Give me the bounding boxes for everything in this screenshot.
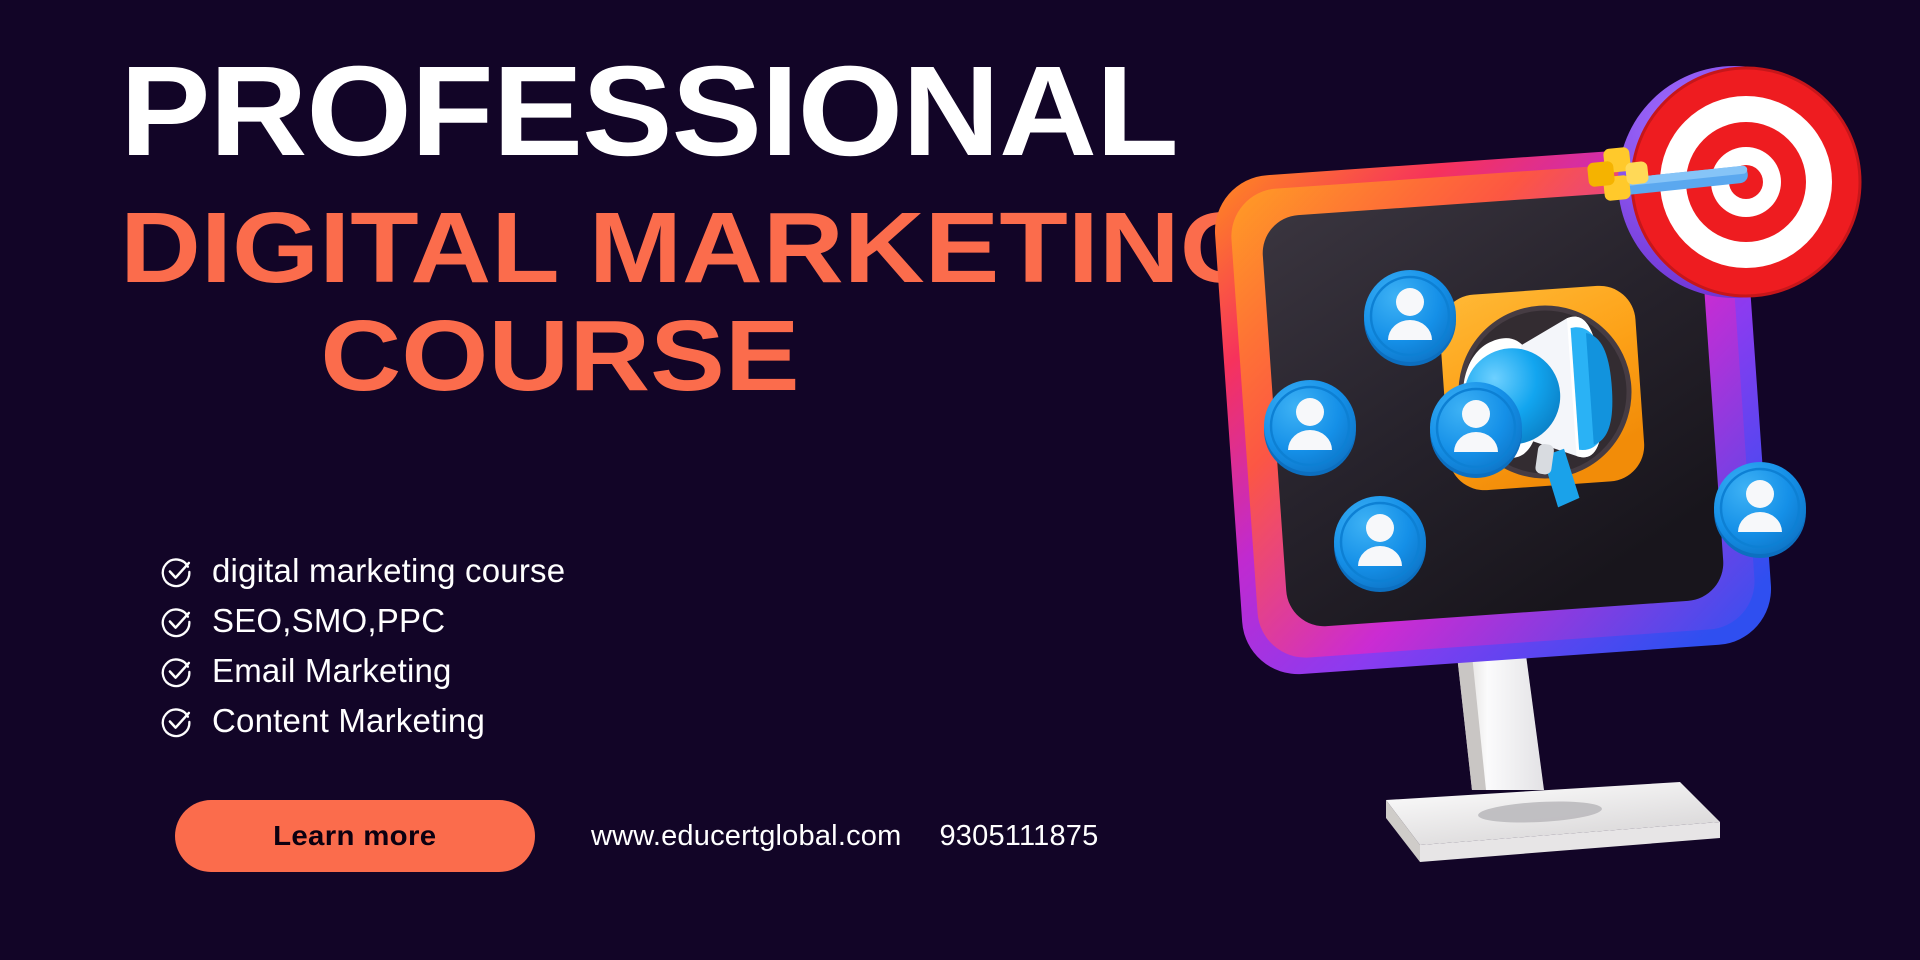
digital-marketing-illustration	[1120, 0, 1920, 960]
content-column: PROFESSIONAL DIGITAL MARKETING COURSE di…	[0, 0, 1120, 960]
list-item-label: Content Marketing	[212, 702, 485, 740]
headline-line-tertiary: COURSE	[67, 306, 1053, 406]
contact-group: www.educertglobal.com 9305111875	[591, 820, 1098, 853]
list-item: SEO,SMO,PPC	[158, 600, 565, 642]
user-avatar-badge	[1264, 380, 1356, 476]
feature-list: digital marketing course SEO,SMO,PPC Ema…	[158, 550, 565, 742]
user-avatar-badge	[1334, 496, 1426, 592]
cta-row: Learn more www.educertglobal.com 9305111…	[175, 800, 1098, 872]
user-avatar-badge	[1430, 382, 1522, 478]
check-circle-icon	[158, 602, 196, 640]
list-item-label: digital marketing course	[212, 552, 565, 590]
headline-line-secondary: DIGITAL MARKETING	[120, 194, 1240, 302]
list-item-label: Email Marketing	[212, 652, 452, 690]
headline-block: PROFESSIONAL DIGITAL MARKETING COURSE	[120, 48, 1120, 406]
user-avatar-badge	[1714, 462, 1806, 558]
phone-number[interactable]: 9305111875	[939, 820, 1098, 853]
check-circle-icon	[158, 702, 196, 740]
learn-more-button-label: Learn more	[273, 820, 436, 852]
headline-line-primary: PROFESSIONAL	[120, 48, 1180, 176]
promo-banner: PROFESSIONAL DIGITAL MARKETING COURSE di…	[0, 0, 1920, 960]
list-item: Content Marketing	[158, 700, 565, 742]
check-circle-icon	[158, 552, 196, 590]
list-item-label: SEO,SMO,PPC	[212, 602, 445, 640]
check-circle-icon	[158, 652, 196, 690]
user-avatar-badge	[1364, 270, 1456, 366]
website-url[interactable]: www.educertglobal.com	[591, 820, 901, 853]
list-item: digital marketing course	[158, 550, 565, 592]
list-item: Email Marketing	[158, 650, 565, 692]
learn-more-button[interactable]: Learn more	[175, 800, 535, 872]
monitor-stand	[1386, 655, 1720, 862]
